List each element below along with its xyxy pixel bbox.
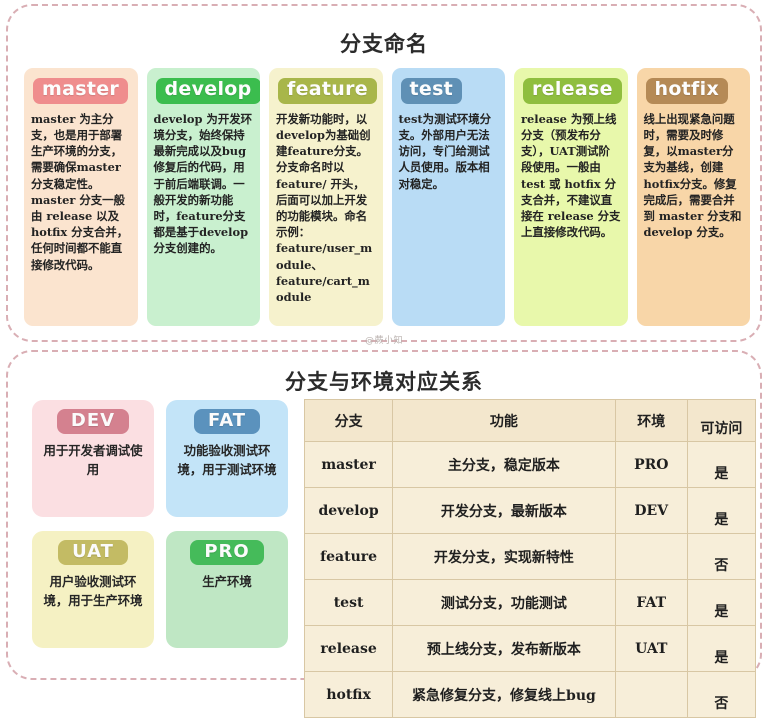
table-column-header: 分支: [305, 400, 393, 442]
function-cell: 开发分支，最新版本: [393, 488, 615, 534]
access-cell: 是: [687, 488, 755, 534]
branch-description-feature: 开发新功能时，以develop为基础创建feature分支。分支命名时以feat…: [276, 111, 376, 305]
access-cell: 是: [687, 442, 755, 488]
environment-badge-DEV: DEV: [57, 409, 129, 434]
environment-card-grid: DEV用于开发者调试使用FAT功能验收测试环境，用于测试环境UAT用户验收测试环…: [32, 400, 288, 648]
function-cell: 主分支，稳定版本: [393, 442, 615, 488]
branch-description-develop: develop 为开发环境分支，始终保持最新完成以及bug修复后的代码，用于前后…: [154, 111, 254, 257]
branch-description-master: master 为主分支，也是用于部署生产环境的分支，需要确保master分支稳定…: [31, 111, 131, 273]
branch-environment-title: 分支与环境对应关系: [8, 366, 760, 396]
table-row: develop开发分支，最新版本DEV是: [305, 488, 756, 534]
environment-description-FAT: 功能验收测试环境，用于测试环境: [174, 442, 280, 479]
branch-cell: develop: [305, 488, 393, 534]
table-row: master主分支，稳定版本PRO是: [305, 442, 756, 488]
branch-environment-panel: 分支与环境对应关系 DEV用于开发者调试使用FAT功能验收测试环境，用于测试环境…: [6, 350, 762, 680]
table-row: release预上线分支，发布新版本UAT是: [305, 626, 756, 672]
branch-badge-test: test: [401, 78, 463, 104]
branch-card-master: mastermaster 为主分支，也是用于部署生产环境的分支，需要确保mast…: [24, 68, 138, 326]
branch-cell: test: [305, 580, 393, 626]
environment-cell: [615, 672, 687, 718]
environment-badge-FAT: FAT: [194, 409, 260, 434]
environment-description-UAT: 用户验收测试环境，用于生产环境: [40, 573, 146, 610]
environment-description-PRO: 生产环境: [202, 573, 252, 592]
table-column-header: 功能: [393, 400, 615, 442]
branch-card-list: mastermaster 为主分支，也是用于部署生产环境的分支，需要确保mast…: [24, 68, 750, 326]
branch-cell: feature: [305, 534, 393, 580]
function-cell: 测试分支，功能测试: [393, 580, 615, 626]
function-cell: 紧急修复分支，修复线上bug: [393, 672, 615, 718]
branch-badge-feature: feature: [278, 78, 377, 104]
environment-badge-PRO: PRO: [190, 540, 263, 565]
environment-cell: UAT: [615, 626, 687, 672]
branch-card-hotfix: hotfix线上出现紧急问题时，需要及时修复，以master分支为基线，创建ho…: [637, 68, 751, 326]
branch-card-release: releaserelease 为预上线分支（预发布分支），UAT测试阶段使用。一…: [514, 68, 628, 326]
branch-description-release: release 为预上线分支（预发布分支），UAT测试阶段使用。一般由test …: [521, 111, 621, 241]
environment-cell: PRO: [615, 442, 687, 488]
access-cell: 是: [687, 626, 755, 672]
table-row: hotfix紧急修复分支，修复线上bug否: [305, 672, 756, 718]
environment-badge-UAT: UAT: [58, 540, 128, 565]
access-cell: 否: [687, 672, 755, 718]
environment-cell: [615, 534, 687, 580]
branch-environment-table: 分支功能环境可访问 master主分支，稳定版本PRO是develop开发分支，…: [304, 399, 756, 718]
branch-cell: release: [305, 626, 393, 672]
access-cell: 否: [687, 534, 755, 580]
environment-card-DEV: DEV用于开发者调试使用: [32, 400, 154, 517]
branch-card-test: testtest为测试环境分支。外部用户无法访问，专门给测试人员使用。版本相对稳…: [392, 68, 506, 326]
environment-cell: DEV: [615, 488, 687, 534]
function-cell: 开发分支，实现新特性: [393, 534, 615, 580]
branch-card-develop: developdevelop 为开发环境分支，始终保持最新完成以及bug修复后的…: [147, 68, 261, 326]
branch-badge-release: release: [523, 78, 622, 104]
environment-description-DEV: 用于开发者调试使用: [40, 442, 146, 479]
access-cell: 是: [687, 580, 755, 626]
branch-naming-panel: 分支命名 mastermaster 为主分支，也是用于部署生产环境的分支，需要确…: [6, 4, 762, 342]
branch-description-test: test为测试环境分支。外部用户无法访问，专门给测试人员使用。版本相对稳定。: [399, 111, 499, 192]
table-row: test测试分支，功能测试FAT是: [305, 580, 756, 626]
table-column-header: 环境: [615, 400, 687, 442]
function-cell: 预上线分支，发布新版本: [393, 626, 615, 672]
branch-description-hotfix: 线上出现紧急问题时，需要及时修复，以master分支为基线，创建hotfix分支…: [644, 111, 744, 241]
table-row: feature开发分支，实现新特性否: [305, 534, 756, 580]
branch-cell: hotfix: [305, 672, 393, 718]
table-column-header: 可访问: [687, 400, 755, 442]
table-header-row: 分支功能环境可访问: [305, 400, 756, 442]
environment-card-PRO: PRO生产环境: [166, 531, 288, 648]
branch-badge-develop: develop: [156, 78, 261, 104]
branch-badge-master: master: [33, 78, 128, 104]
branch-cell: master: [305, 442, 393, 488]
environment-card-UAT: UAT用户验收测试环境，用于生产环境: [32, 531, 154, 648]
environment-card-FAT: FAT功能验收测试环境，用于测试环境: [166, 400, 288, 517]
watermark: @蕨小知: [8, 333, 760, 346]
branch-naming-title: 分支命名: [8, 28, 760, 58]
environment-cell: FAT: [615, 580, 687, 626]
branch-card-feature: feature开发新功能时，以develop为基础创建feature分支。分支命…: [269, 68, 383, 326]
branch-badge-hotfix: hotfix: [646, 78, 729, 104]
